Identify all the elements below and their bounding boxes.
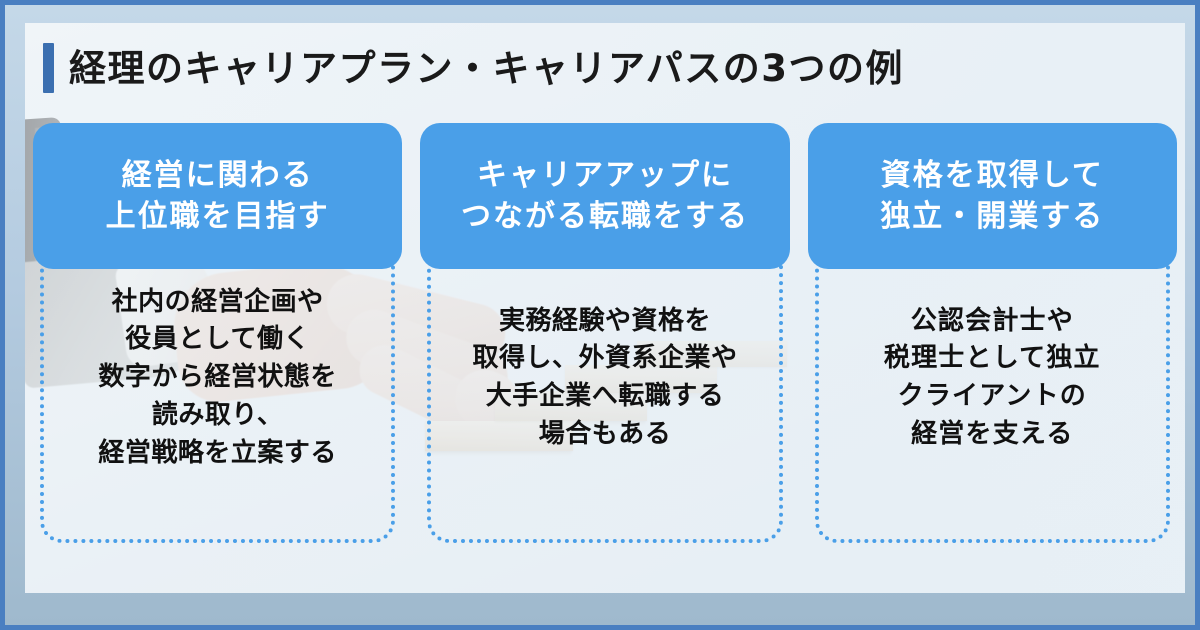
page-title: 経理のキャリアプラン・キャリアパスの3つの例 <box>43 43 904 93</box>
outer-frame: 経理のキャリアプラン・キャリアパスの3つの例 社内の経営企画や 役員として働く … <box>0 0 1200 630</box>
card-body-line: 経営を支える <box>884 416 1101 454</box>
card-header: 資格を取得して 独立・開業する <box>808 123 1177 269</box>
card-body-text: 公認会計士や 税理士として独立 クライアントの 経営を支える <box>884 303 1101 454</box>
card-body-text: 社内の経営企画や 役員として働く 数字から経営状態を 読み取り、 経営戦略を立案… <box>98 284 337 472</box>
card-career-up-transfer[interactable]: 実務経験や資格を 取得し、外資系企業や 大手企業へ転職する 場合もある キャリア… <box>420 123 789 543</box>
title-accent-bar <box>43 43 54 93</box>
card-body-line: 実務経験や資格を <box>472 303 737 341</box>
card-body-line: 経営戦略を立案する <box>98 435 337 473</box>
card-header-line: つながる転職をする <box>461 196 749 237</box>
card-body-line: 税理士として独立 <box>884 340 1101 378</box>
card-list: 社内の経営企画や 役員として働く 数字から経営状態を 読み取り、 経営戦略を立案… <box>33 123 1177 543</box>
card-body-line: 役員として働く <box>98 321 337 359</box>
card-header: 経営に関わる 上位職を目指す <box>33 123 402 269</box>
card-header: キャリアアップに つながる転職をする <box>420 123 789 269</box>
card-body-line: 場合もある <box>472 416 737 454</box>
card-qualification-independent[interactable]: 公認会計士や 税理士として独立 クライアントの 経営を支える 資格を取得して 独… <box>808 123 1177 543</box>
card-career-management[interactable]: 社内の経営企画や 役員として働く 数字から経営状態を 読み取り、 経営戦略を立案… <box>33 123 402 543</box>
card-body-line: 読み取り、 <box>98 397 337 435</box>
slide-canvas: 経理のキャリアプラン・キャリアパスの3つの例 社内の経営企画や 役員として働く … <box>25 23 1185 593</box>
card-body-line: 社内の経営企画や <box>98 284 337 322</box>
inner-frame-band: 経理のキャリアプラン・キャリアパスの3つの例 社内の経営企画や 役員として働く … <box>5 5 1195 625</box>
card-header-line: 経営に関わる <box>122 155 314 196</box>
card-body-line: 大手企業へ転職する <box>472 378 737 416</box>
card-body-line: クライアントの <box>884 378 1101 416</box>
card-header-line: 独立・開業する <box>880 196 1104 237</box>
card-body-text: 実務経験や資格を 取得し、外資系企業や 大手企業へ転職する 場合もある <box>472 303 737 454</box>
card-body-line: 数字から経営状態を <box>98 359 337 397</box>
card-body-line: 取得し、外資系企業や <box>472 340 737 378</box>
card-header-line: 資格を取得して <box>881 155 1104 196</box>
card-header-line: 上位職を目指す <box>106 196 330 237</box>
title-label: 経理のキャリアプラン・キャリアパスの3つの例 <box>69 50 904 87</box>
card-header-line: キャリアアップに <box>477 155 733 196</box>
card-body-line: 公認会計士や <box>884 303 1101 341</box>
